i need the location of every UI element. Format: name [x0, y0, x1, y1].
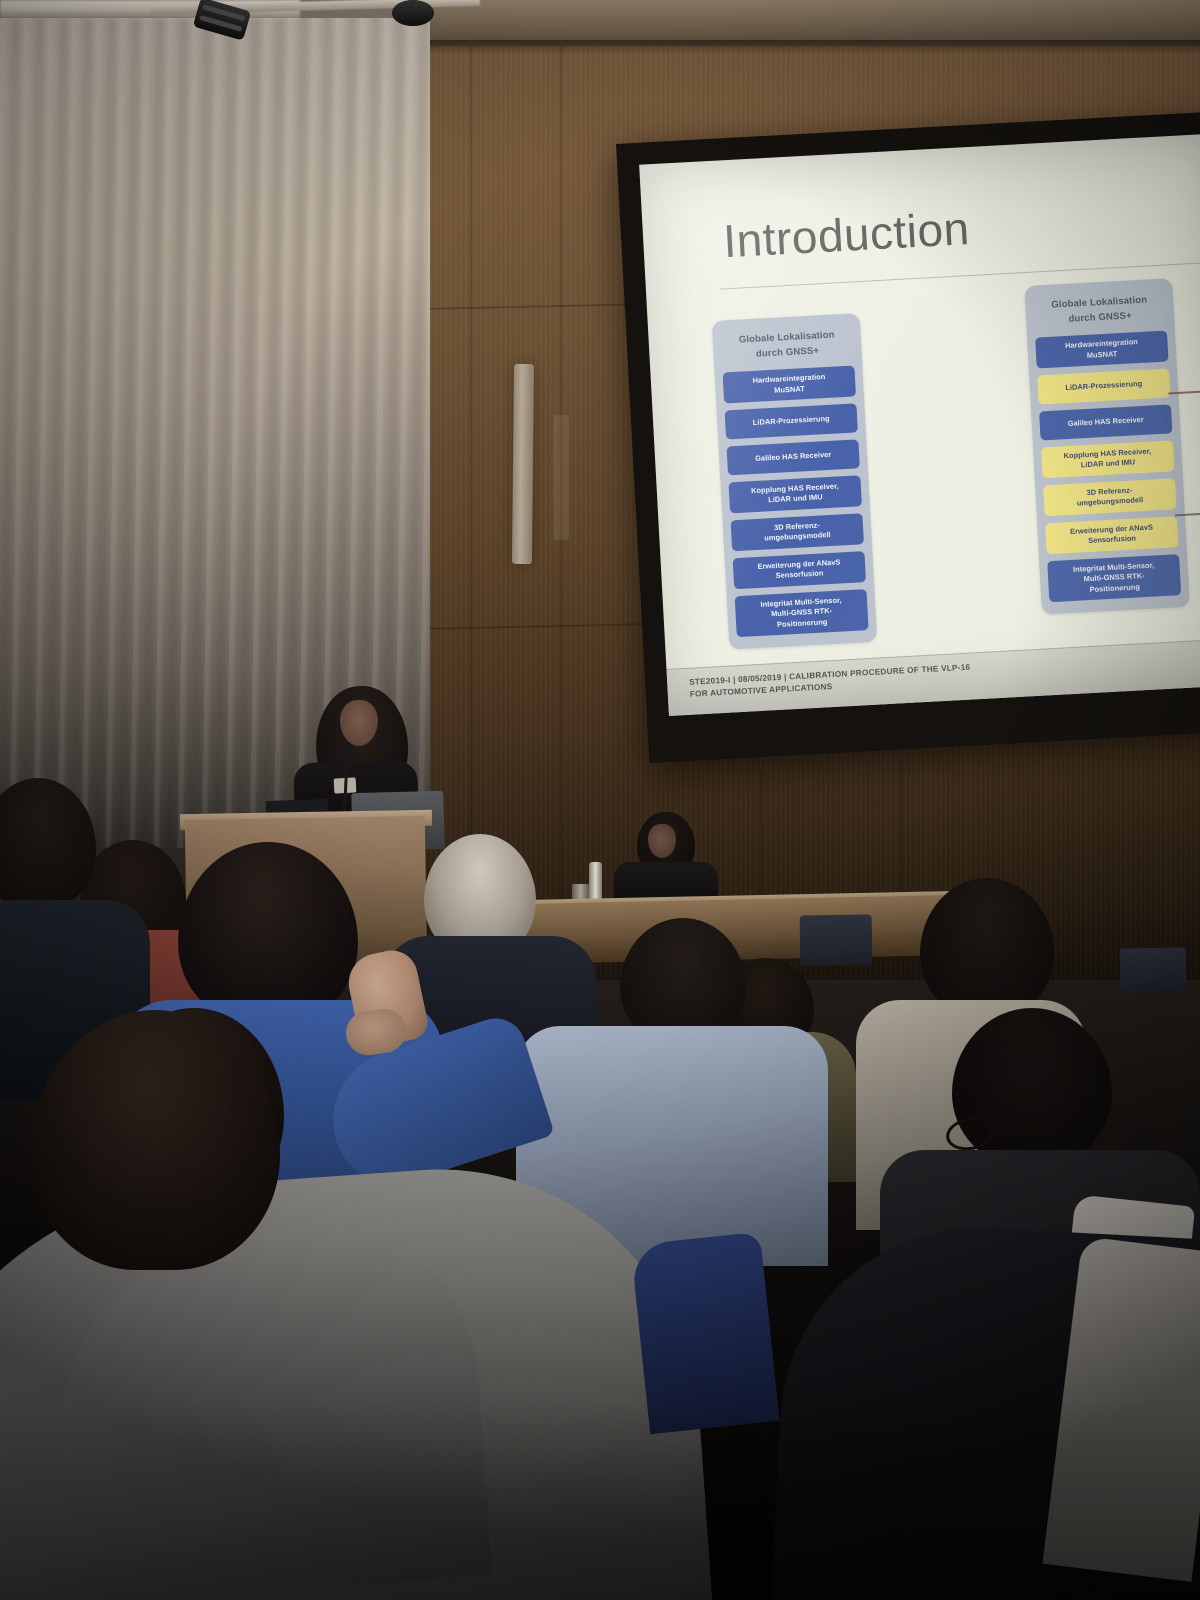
projection-screen: Introduction Globale Lokalisation durch … [616, 112, 1200, 764]
audience-head [920, 878, 1054, 1018]
column-header-left: Globale Lokalisation durch GNSS+ [720, 323, 854, 373]
wall-seam [470, 46, 472, 946]
box-line1: Galileo HAS Receiver [1043, 414, 1169, 431]
diagram-box: Galileo HAS Receiver [1039, 404, 1172, 440]
slide-footer: STE2019-I | 08/05/2019 | CALIBRATION PRO… [666, 638, 1200, 716]
slide-title: Introduction [722, 201, 971, 268]
diagram-box-highlighted: Erweiterung der ANavS Sensorfusion [1045, 516, 1178, 554]
box-line1: LiDAR-Prozessierung [728, 413, 854, 430]
box-line1: LiDAR-Prozessierung [1041, 378, 1167, 395]
diagram-box: Integritat Multi-Sensor, Multi-GNSS RTK-… [735, 589, 869, 638]
diagram-box: LiDAR-Prozessierung [725, 404, 858, 440]
presentation-slide: Introduction Globale Lokalisation durch … [639, 134, 1200, 716]
diagram-box: Integritat Multi-Sensor, Multi-GNSS RTK-… [1047, 554, 1181, 603]
soffit-shadow [395, 40, 1200, 54]
diagram-box-highlighted: 3D Referenz- umgebungsmodell [1043, 478, 1176, 516]
chair [800, 914, 873, 965]
box-line1: Galileo HAS Receiver [730, 448, 856, 465]
diagram-box: Galileo HAS Receiver [727, 439, 860, 475]
diagram-column-left: Globale Lokalisation durch GNSS+ Hardwar… [712, 313, 878, 650]
diagram-box-highlighted: LiDAR-Prozessierung [1037, 369, 1170, 405]
diagram-column-right: Globale Lokalisation durch GNSS+ Hardwar… [1024, 278, 1190, 615]
wall-light-fixture [512, 364, 534, 564]
chair [1120, 947, 1187, 992]
column-header-right: Globale Lokalisation durch GNSS+ [1033, 289, 1167, 339]
diagram-box: Erweiterung der ANavS Sensorfusion [733, 551, 866, 589]
slide-footer-text: STE2019-I | 08/05/2019 | CALIBRATION PRO… [689, 655, 1090, 700]
projection-screen-surface: Introduction Globale Lokalisation durch … [639, 134, 1200, 716]
foreground-blue-collar [630, 1232, 779, 1435]
diagram-box: Hardwareintegration MuSNAT [723, 366, 856, 404]
diagram-box: 3D Referenz- umgebungsmodell [730, 513, 863, 551]
diagram-box: Kopplung HAS Receiver, LiDAR und IMU [728, 475, 861, 513]
lecture-hall-photo: Introduction Globale Lokalisation durch … [0, 0, 1200, 1600]
wall-fixture-reflection [553, 415, 569, 540]
diagram-box: Hardwareintegration MuSNAT [1035, 331, 1168, 369]
ceiling-spotlight-icon [392, 0, 434, 26]
diagram-box-highlighted: Kopplung HAS Receiver, LiDAR und IMU [1041, 440, 1174, 478]
